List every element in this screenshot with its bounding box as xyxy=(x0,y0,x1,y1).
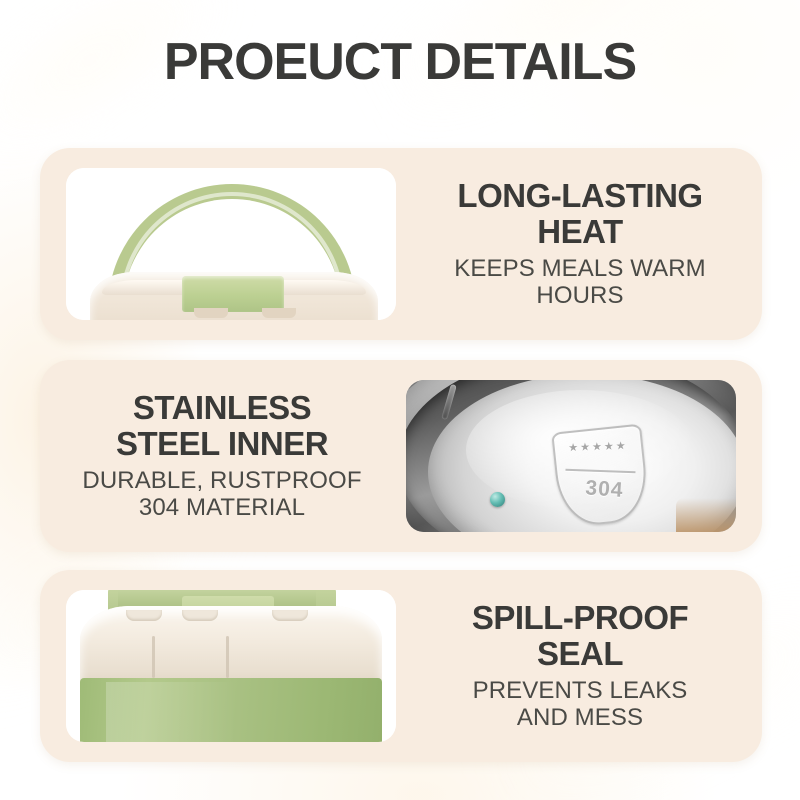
feature-title-line-2: STEEL INNER xyxy=(116,426,328,462)
warm-reflection xyxy=(676,498,736,532)
teal-indicator-dot xyxy=(490,492,505,507)
feature-title: STAINLESS STEEL INNER xyxy=(116,390,328,461)
feature-title-line-2: HEAT xyxy=(457,214,702,250)
photo-backdrop xyxy=(66,590,396,742)
five-stars-icon: ★★★★★ xyxy=(561,439,635,455)
feature-subtitle: PREVENTS LEAKS AND MESS xyxy=(473,678,688,732)
feature-text-stainless-steel-inner: STAINLESS STEEL INNER DURABLE, RUSTPROOF… xyxy=(48,360,396,552)
feature-subtitle-line-1: PREVENTS LEAKS xyxy=(473,678,688,705)
feature-title-line-1: SPILL-PROOF xyxy=(472,600,688,636)
stainless-steel-inner-photo: ★★★★★ 304 xyxy=(406,380,736,532)
feature-card-long-lasting-heat: LONG-LASTING HEAT KEEPS MEALS WARM HOURS xyxy=(40,148,762,340)
lid-seam xyxy=(226,636,229,678)
feature-subtitle-line-1: KEEPS MEALS WARM xyxy=(454,256,705,283)
feature-card-spill-proof-seal: SPILL-PROOF SEAL PREVENTS LEAKS AND MESS xyxy=(40,570,762,762)
body-highlight xyxy=(106,682,236,742)
feature-subtitle: DURABLE, RUSTPROOF 304 MATERIAL xyxy=(82,468,361,522)
lid-notch xyxy=(182,610,218,621)
feature-title: LONG-LASTING HEAT xyxy=(457,178,702,249)
emblem-divider xyxy=(565,469,635,473)
feature-card-stainless-steel-inner: STAINLESS STEEL INNER DURABLE, RUSTPROOF… xyxy=(40,360,762,552)
product-details-poster: PROEUCT DETAILS LONG-LASTING HE xyxy=(0,0,800,800)
feature-subtitle-line-2: AND MESS xyxy=(473,705,688,732)
photo-backdrop: ★★★★★ 304 xyxy=(406,380,736,532)
photo-backdrop xyxy=(66,168,396,320)
feature-subtitle-line-2: HOURS xyxy=(454,283,705,310)
feature-title-line-1: STAINLESS xyxy=(116,390,328,426)
feature-subtitle-line-2: 304 MATERIAL xyxy=(82,495,361,522)
lid-seam xyxy=(152,636,155,678)
lid-notch xyxy=(262,308,296,318)
spill-proof-lid-photo xyxy=(66,590,396,742)
feature-title-line-1: LONG-LASTING xyxy=(457,178,702,214)
feature-subtitle-line-1: DURABLE, RUSTPROOF xyxy=(82,468,361,495)
page-title: PROEUCT DETAILS xyxy=(0,36,800,88)
feature-subtitle: KEEPS MEALS WARM HOURS xyxy=(454,256,705,310)
feature-text-spill-proof-seal: SPILL-PROOF SEAL PREVENTS LEAKS AND MESS xyxy=(406,570,754,762)
lid-notch xyxy=(272,610,308,621)
lid-notch xyxy=(126,610,162,621)
lunch-box-handle-photo xyxy=(66,168,396,320)
steel-grade-label: 304 xyxy=(569,475,641,504)
green-latch-plate xyxy=(182,276,284,312)
lid-notch xyxy=(194,308,228,318)
feature-title-line-2: SEAL xyxy=(472,636,688,672)
feature-text-long-lasting-heat: LONG-LASTING HEAT KEEPS MEALS WARM HOURS xyxy=(406,148,754,340)
feature-title: SPILL-PROOF SEAL xyxy=(472,600,688,671)
